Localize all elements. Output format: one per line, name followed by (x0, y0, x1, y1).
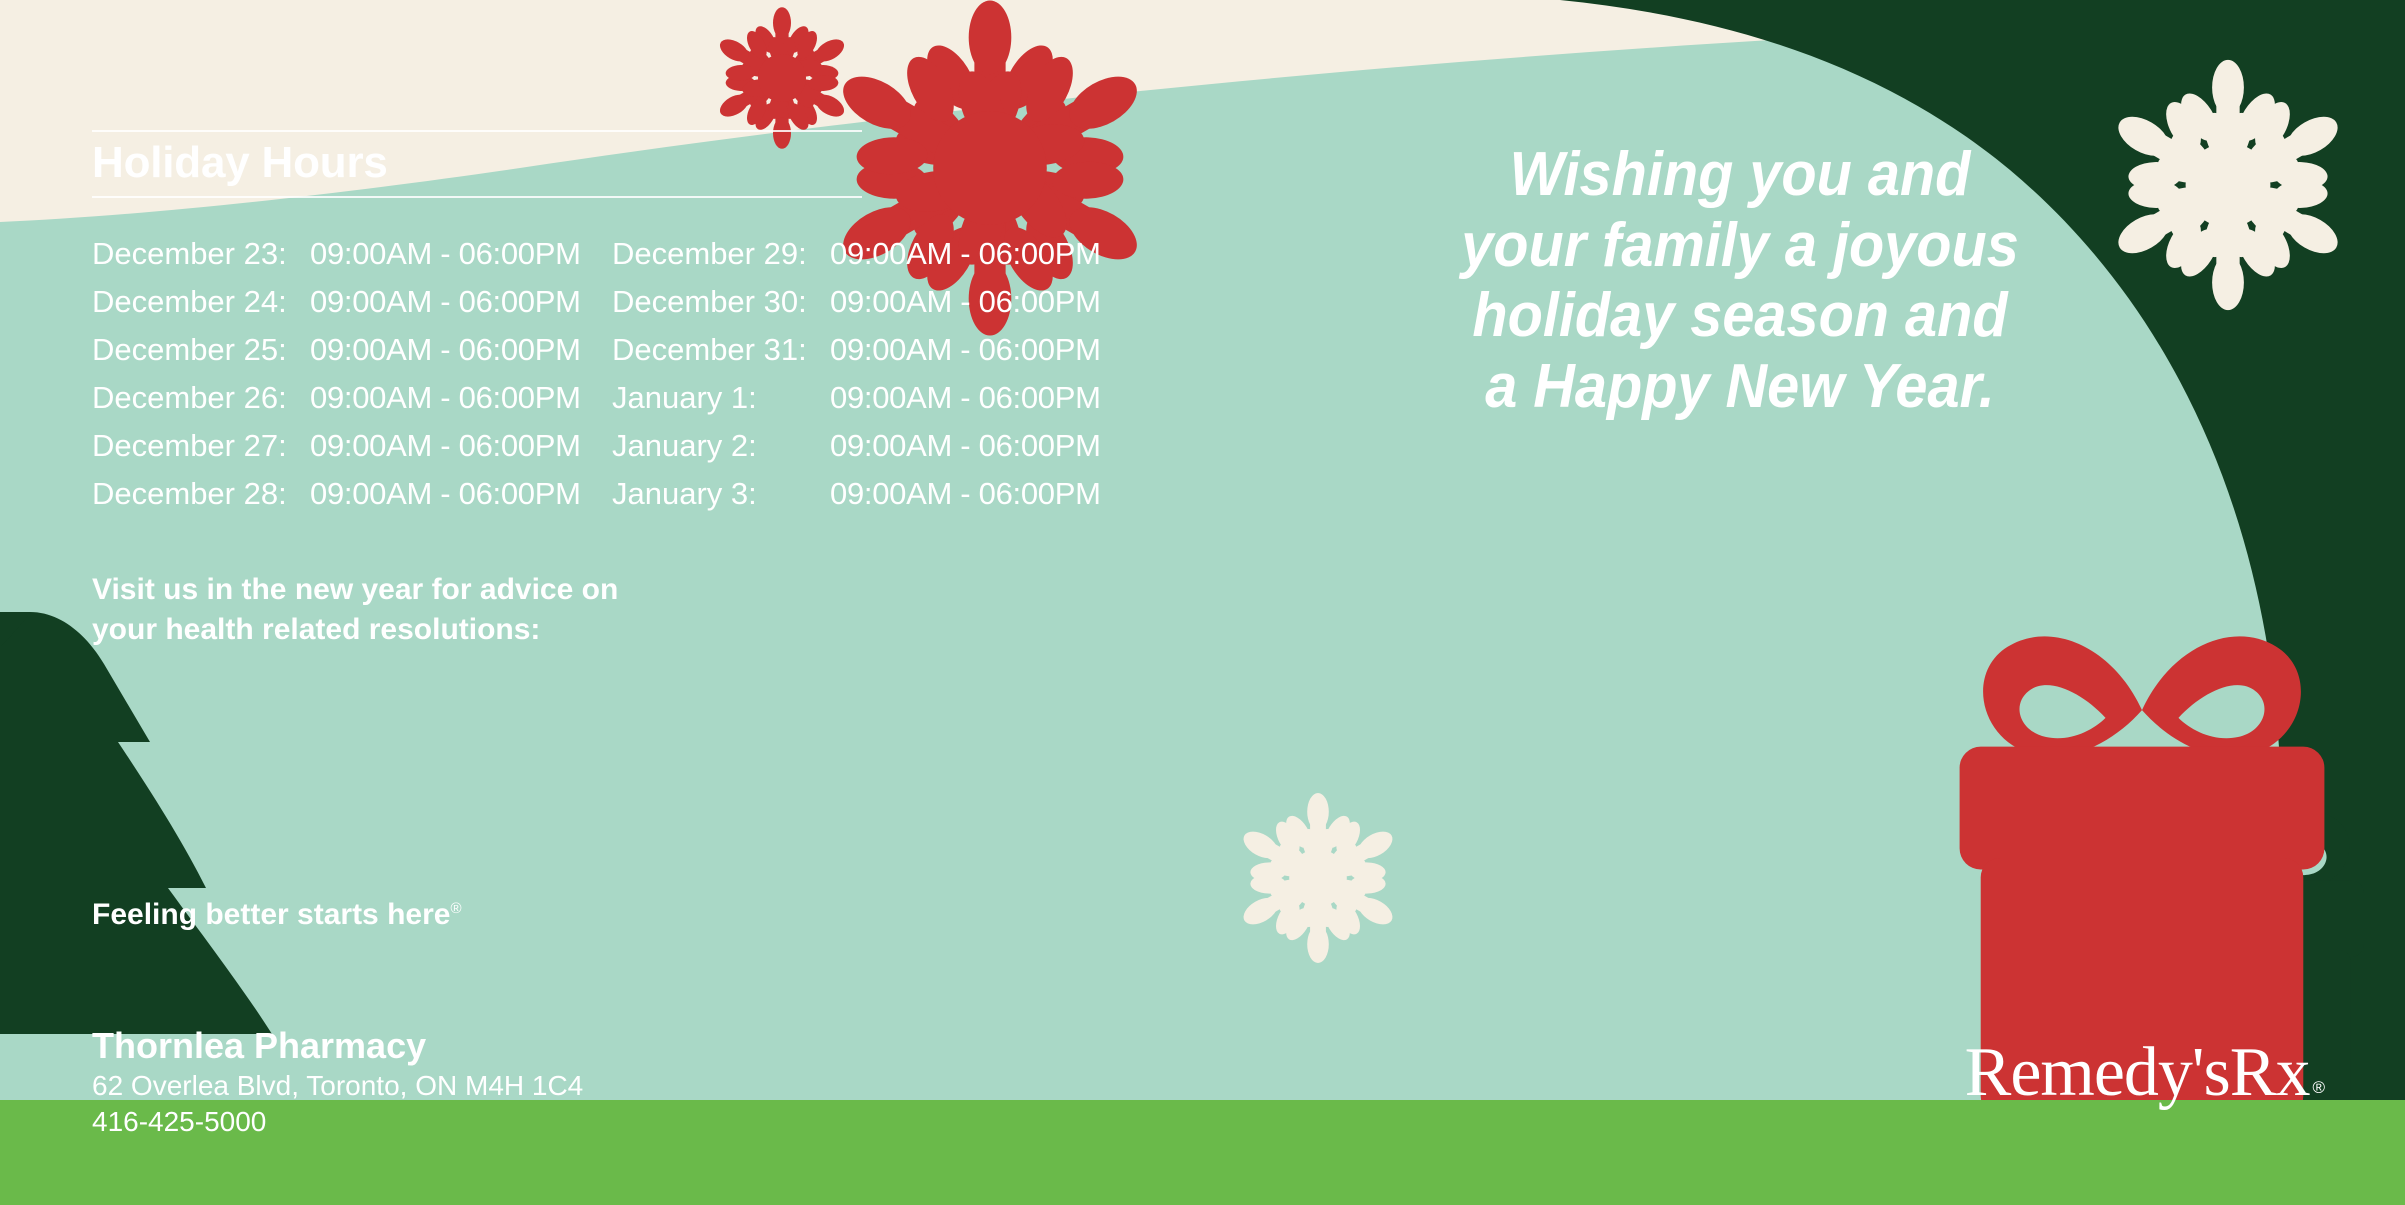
snowflake-red-small-shape (702, 7, 862, 149)
hours-row: January 2: 09:00AM - 06:00PM (612, 422, 1132, 470)
hours-row: December 24: 09:00AM - 06:00PM (92, 278, 612, 326)
hours-bottom-rule (92, 196, 862, 198)
hours-row: January 3: 09:00AM - 06:00PM (612, 470, 1132, 518)
greeting-line-3: holiday season and (1359, 281, 2122, 352)
hours-grid: December 23: 09:00AM - 06:00PM December … (92, 230, 1122, 518)
hours-time-value: 09:00AM - 06:00PM (310, 374, 581, 422)
logo-registered-trademark-icon: ® (2312, 1078, 2324, 1097)
hours-day-label: January 3: (612, 470, 830, 518)
greeting-line-2: your family a joyous (1359, 211, 2122, 282)
hours-row: December 26: 09:00AM - 06:00PM (92, 374, 612, 422)
promo-message: Visit us in the new year for advice on y… (92, 570, 752, 649)
pharmacy-address: 62 Overlea Blvd, Toronto, ON M4H 1C4 (92, 1068, 583, 1104)
pharmacy-phone: 416-425-5000 (92, 1104, 583, 1140)
pharmacy-contact-info: Thornlea Pharmacy 62 Overlea Blvd, Toron… (92, 1024, 583, 1140)
pharmacy-name: Thornlea Pharmacy (92, 1024, 583, 1068)
hours-day-label: December 29: (612, 230, 830, 278)
tagline-text: Feeling better starts here (92, 898, 450, 931)
hours-time-value: 09:00AM - 06:00PM (310, 422, 581, 470)
hours-time-value: 09:00AM - 06:00PM (830, 470, 1101, 518)
hours-row: December 29: 09:00AM - 06:00PM (612, 230, 1132, 278)
hours-day-label: December 27: (92, 422, 310, 470)
hours-row: January 1: 09:00AM - 06:00PM (612, 374, 1132, 422)
hours-day-label: January 2: (612, 422, 830, 470)
promo-line-2: your health related resolutions: (92, 610, 752, 650)
holiday-greeting: Wishing you and your family a joyous hol… (1359, 140, 2122, 423)
christmas-tree-shape (0, 612, 272, 1034)
greeting-line-4: a Happy New Year. (1359, 352, 2122, 423)
brand-tagline: Feeling better starts here® (92, 898, 462, 932)
hours-day-label: January 1: (612, 374, 830, 422)
hours-row: December 23: 09:00AM - 06:00PM (92, 230, 612, 278)
hours-day-label: December 26: (92, 374, 310, 422)
hours-time-value: 09:00AM - 06:00PM (830, 374, 1101, 422)
hours-row: December 30: 09:00AM - 06:00PM (612, 278, 1132, 326)
hours-day-label: December 31: (612, 326, 830, 374)
logo-wordmark: Remedy'sRx (1965, 1034, 2310, 1111)
greeting-line-1: Wishing you and (1359, 140, 2122, 211)
hours-row: December 25: 09:00AM - 06:00PM (92, 326, 612, 374)
hours-time-value: 09:00AM - 06:00PM (830, 230, 1101, 278)
holiday-banner: Holiday Hours December 23: 09:00AM - 06:… (0, 0, 2405, 1205)
hours-row: December 31: 09:00AM - 06:00PM (612, 326, 1132, 374)
hours-day-label: December 24: (92, 278, 310, 326)
holiday-hours-section: Holiday Hours December 23: 09:00AM - 06:… (92, 130, 1122, 518)
hours-time-value: 09:00AM - 06:00PM (310, 470, 581, 518)
snowflake-cream-large-shape (2087, 60, 2369, 310)
promo-line-1: Visit us in the new year for advice on (92, 570, 752, 610)
hours-time-value: 09:00AM - 06:00PM (310, 230, 581, 278)
hours-row: December 27: 09:00AM - 06:00PM (92, 422, 612, 470)
snowflake-cream-small-shape (1222, 793, 1414, 963)
hours-top-rule (92, 130, 862, 132)
hours-day-label: December 25: (92, 326, 310, 374)
hours-day-label: December 30: (612, 278, 830, 326)
hours-row: December 28: 09:00AM - 06:00PM (92, 470, 612, 518)
hours-time-value: 09:00AM - 06:00PM (830, 326, 1101, 374)
remedysrx-logo: Remedy'sRx® (1965, 1038, 2321, 1108)
hours-day-label: December 23: (92, 230, 310, 278)
hours-time-value: 09:00AM - 06:00PM (830, 278, 1101, 326)
hours-time-value: 09:00AM - 06:00PM (310, 278, 581, 326)
holiday-hours-title: Holiday Hours (92, 132, 1122, 196)
hours-day-label: December 28: (92, 470, 310, 518)
hours-time-value: 09:00AM - 06:00PM (310, 326, 581, 374)
hours-time-value: 09:00AM - 06:00PM (830, 422, 1101, 470)
registered-trademark-icon: ® (450, 900, 461, 917)
